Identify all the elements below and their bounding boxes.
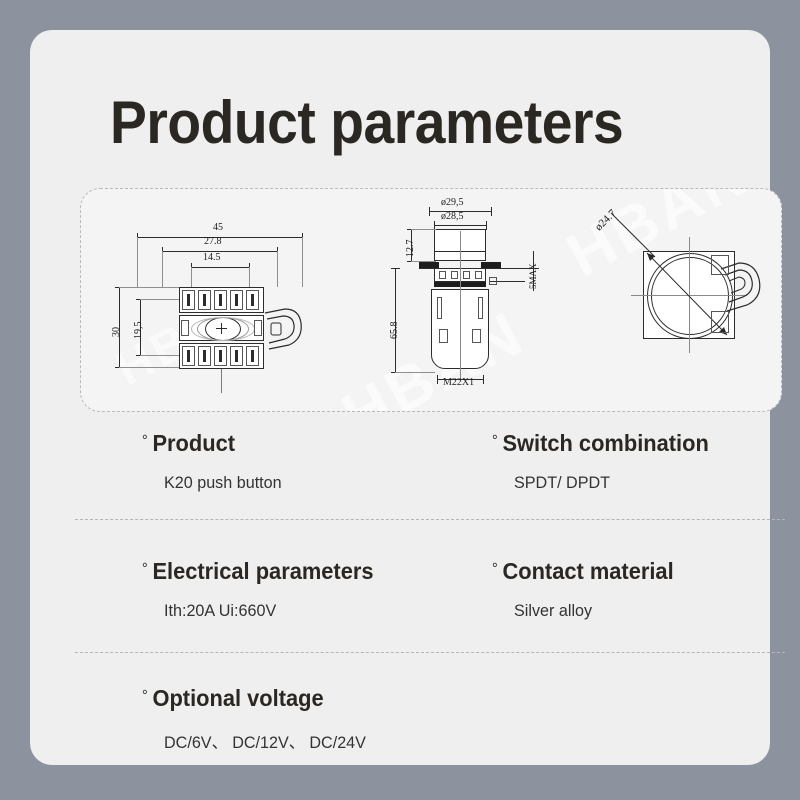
product-parameters-page: Product parameters HBAN HBAN HBAN 45 27.… <box>0 0 800 800</box>
spec-value: K20 push button <box>164 473 282 493</box>
spec-item-electrical-parameters: °Electrical parameters Ith:20A Ui:660V <box>142 558 386 621</box>
bullet-icon: ° <box>492 560 498 577</box>
mounting-clip-icon <box>263 307 323 377</box>
dimension-label: 27.8 <box>204 236 222 247</box>
drawing-side-view: ø29,5 ø28,5 12.7 <box>381 189 611 411</box>
spec-label: °Contact material <box>492 558 674 585</box>
bullet-icon: ° <box>142 687 148 704</box>
row-divider <box>75 652 785 653</box>
drawing-bottom-view: ø24.7 <box>611 189 781 411</box>
spec-item-switch-combination: °Switch combination SPDT/ DPDT <box>492 430 720 493</box>
bullet-icon: ° <box>492 432 498 449</box>
drawing-top-view: 45 27.8 14.5 <box>81 189 381 411</box>
dimension-label: 14.5 <box>203 252 221 263</box>
spec-item-contact-material: °Contact material Silver alloy <box>492 558 683 621</box>
dimension-label: ø28,5 <box>441 211 464 222</box>
spec-label: °Optional voltage <box>142 685 365 712</box>
spec-label: °Product <box>142 430 281 457</box>
spec-label: °Switch combination <box>492 430 709 457</box>
content-card: Product parameters HBAN HBAN HBAN 45 27.… <box>30 30 770 765</box>
spec-value: Ith:20A Ui:660V <box>164 601 375 621</box>
technical-drawing-panel: HBAN HBAN HBAN 45 27.8 <box>80 188 782 412</box>
dimension-label: 45 <box>213 222 223 233</box>
dimension-label: 19,5 <box>133 322 144 340</box>
dimension-label: 65.8 <box>389 322 400 340</box>
spec-value: Silver alloy <box>514 601 675 621</box>
dimension-label: M22X1 <box>443 377 474 388</box>
spec-label: °Electrical parameters <box>142 558 374 585</box>
spec-value: DC/6V、 DC/12V、 DC/24V <box>164 728 366 753</box>
row-divider <box>75 519 785 520</box>
spec-value: SPDT/ DPDT <box>514 473 710 493</box>
spec-item-product: °Product K20 push button <box>142 430 288 493</box>
bullet-icon: ° <box>142 432 148 449</box>
dimension-label: 30 <box>111 327 122 337</box>
dimension-label: 12.7 <box>405 240 416 258</box>
dimension-label: ø29,5 <box>441 197 464 208</box>
dimension-label: 5MAX <box>528 263 538 289</box>
bullet-icon: ° <box>142 560 148 577</box>
page-title: Product parameters <box>110 88 623 157</box>
spec-item-optional-voltage: °Optional voltage DC/6V、 DC/12V、 DC/24V <box>142 685 377 753</box>
